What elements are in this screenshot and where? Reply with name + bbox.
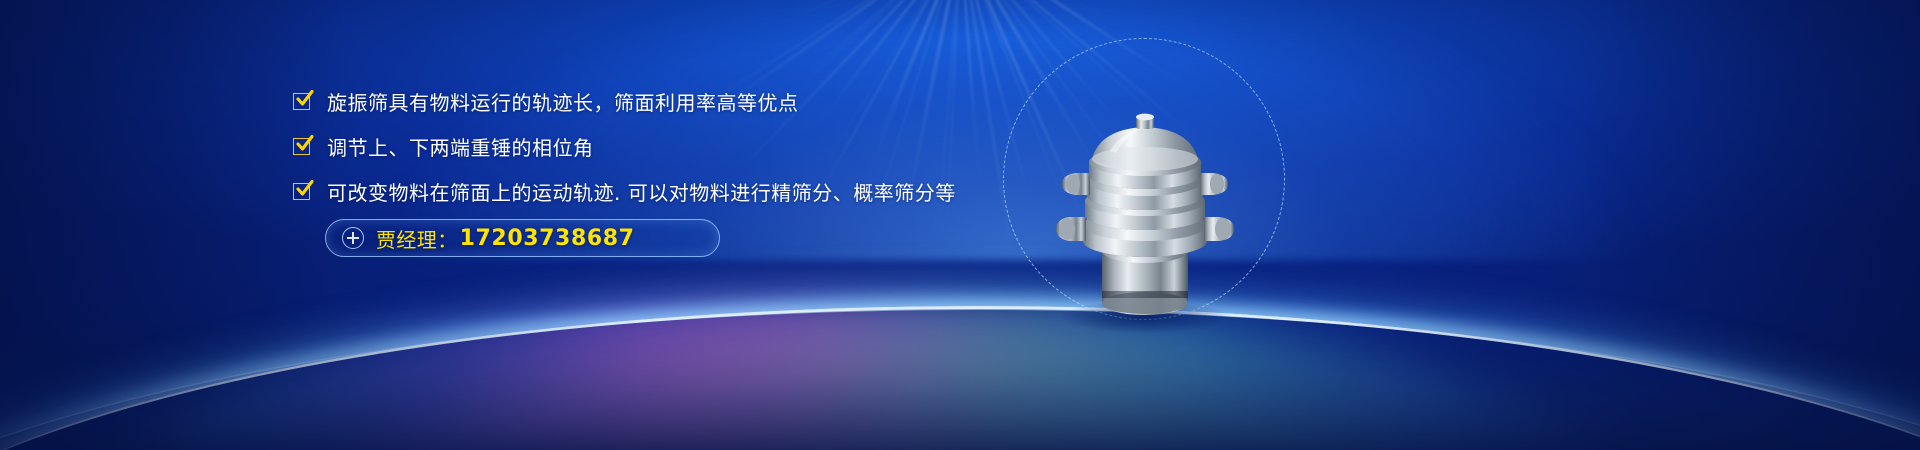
banner-text-block: 旋振筛具有物料运行的轨迹长，筛面利用率高等优点 调节上、下两端重锤的相位角 可改…	[292, 86, 1112, 221]
checkbox-check-icon	[292, 91, 313, 112]
checkbox-check-icon	[292, 136, 313, 157]
feature-bullet-text: 调节上、下两端重锤的相位角	[327, 132, 594, 161]
checkbox-check-icon	[292, 181, 313, 202]
contact-phone-button[interactable]: 贾经理： 17203738687	[325, 219, 720, 257]
contact-person-label: 贾经理：	[376, 224, 458, 253]
light-swoosh	[0, 200, 1920, 450]
plus-circle-icon	[342, 227, 364, 249]
feature-bullet: 旋振筛具有物料运行的轨迹长，筛面利用率高等优点	[292, 86, 1112, 116]
contact-phone-number: 17203738687	[460, 226, 635, 251]
feature-bullet: 调节上、下两端重锤的相位角	[292, 131, 1112, 161]
feature-bullet-text: 旋振筛具有物料运行的轨迹长，筛面利用率高等优点	[327, 87, 799, 116]
promo-banner: 旋振筛具有物料运行的轨迹长，筛面利用率高等优点 调节上、下两端重锤的相位角 可改…	[0, 0, 1920, 450]
feature-bullet: 可改变物料在筛面上的运动轨迹. 可以对物料进行精筛分、概率筛分等	[292, 176, 1112, 206]
feature-bullet-text: 可改变物料在筛面上的运动轨迹. 可以对物料进行精筛分、概率筛分等	[327, 177, 956, 206]
swoosh-bottom-fade	[0, 320, 1920, 450]
